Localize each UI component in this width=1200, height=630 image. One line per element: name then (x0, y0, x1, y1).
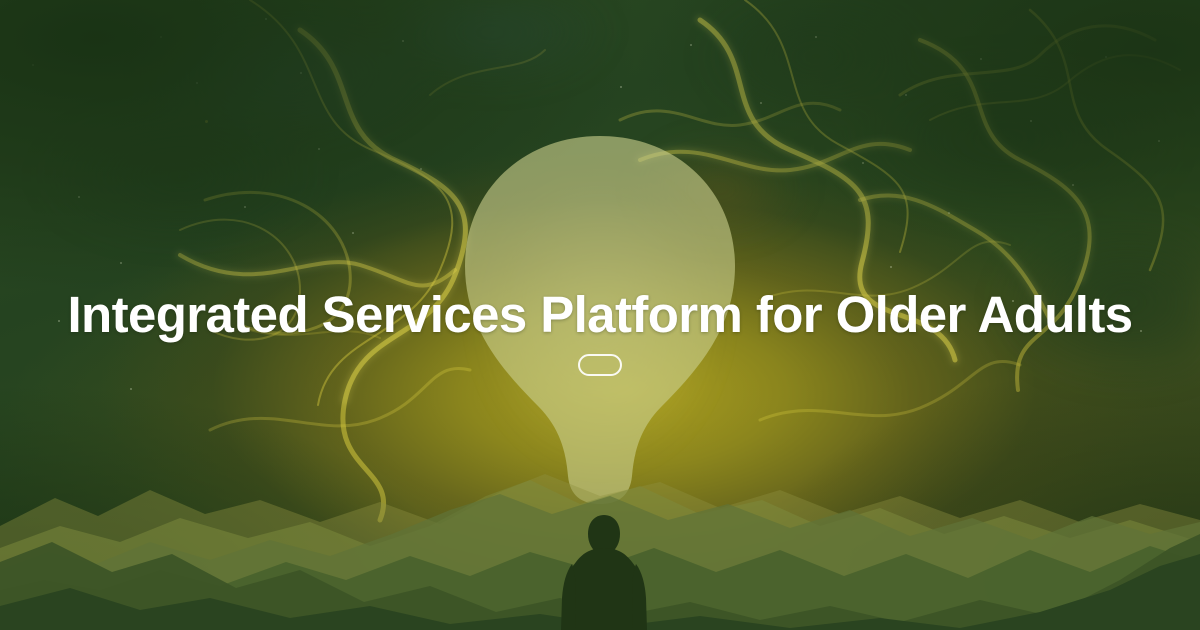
page-title: Integrated Services Platform for Older A… (27, 287, 1172, 343)
title-container: Integrated Services Platform for Older A… (0, 0, 1200, 630)
hero-banner: Integrated Services Platform for Older A… (0, 0, 1200, 630)
